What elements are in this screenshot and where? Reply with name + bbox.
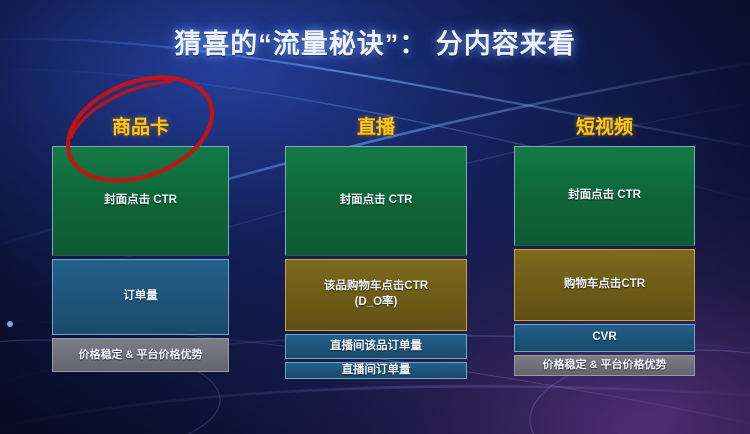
column-title: 直播 <box>285 112 467 139</box>
channel-column-3: 短视频封面点击 CTR购物车点击CTRCVR价格稳定 & 平台价格优势 <box>514 112 695 379</box>
funnel-block: 直播间订单量 <box>285 362 467 379</box>
column-title: 短视频 <box>514 112 695 139</box>
funnel-block-label: 封面点击 CTR <box>563 188 646 204</box>
funnel-stack: 封面点击 CTR该品购物车点击CTR(D_O率)直播间该品订单量直播间订单量 <box>285 146 467 379</box>
funnel-block-label: 价格稳定 & 平台价格优势 <box>73 348 207 363</box>
funnel-block: 该品购物车点击CTR(D_O率) <box>285 259 467 331</box>
funnel-block-label: 订单量 <box>118 289 163 305</box>
slide-title: 猜喜的“流量秘诀”： 分内容来看 <box>0 22 750 61</box>
funnel-block-label: 封面点击 CTR <box>335 193 418 209</box>
funnel-block: 价格稳定 & 平台价格优势 <box>514 355 695 376</box>
funnel-block-label: CVR <box>587 330 621 346</box>
funnel-block: 购物车点击CTR <box>514 249 695 321</box>
funnel-block: 直播间该品订单量 <box>285 334 467 359</box>
funnel-block-label: 价格稳定 & 平台价格优势 <box>537 358 671 373</box>
funnel-block: 封面点击 CTR <box>52 146 229 256</box>
funnel-block: 封面点击 CTR <box>514 146 695 246</box>
channel-column-2: 直播封面点击 CTR该品购物车点击CTR(D_O率)直播间该品订单量直播间订单量 <box>285 112 467 382</box>
funnel-block: 价格稳定 & 平台价格优势 <box>52 338 229 372</box>
funnel-stack: 封面点击 CTR购物车点击CTRCVR价格稳定 & 平台价格优势 <box>514 146 695 376</box>
funnel-block: 封面点击 CTR <box>285 146 467 256</box>
funnel-stack: 封面点击 CTR订单量价格稳定 & 平台价格优势 <box>52 146 229 372</box>
funnel-block-label: 该品购物车点击CTR(D_O率) <box>319 279 433 310</box>
channel-column-1: 商品卡封面点击 CTR订单量价格稳定 & 平台价格优势 <box>52 112 229 375</box>
funnel-block-label: 购物车点击CTR <box>559 277 650 293</box>
funnel-block-label: 封面点击 CTR <box>99 193 182 209</box>
column-title: 商品卡 <box>52 112 229 139</box>
presentation-slide: 猜喜的“流量秘诀”： 分内容来看 商品卡封面点击 CTR订单量价格稳定 & 平台… <box>0 0 750 434</box>
funnel-block-label: 直播间订单量 <box>337 363 416 379</box>
funnel-block: 订单量 <box>52 259 229 335</box>
funnel-block: CVR <box>514 324 695 352</box>
funnel-block-label: 直播间该品订单量 <box>325 339 427 355</box>
